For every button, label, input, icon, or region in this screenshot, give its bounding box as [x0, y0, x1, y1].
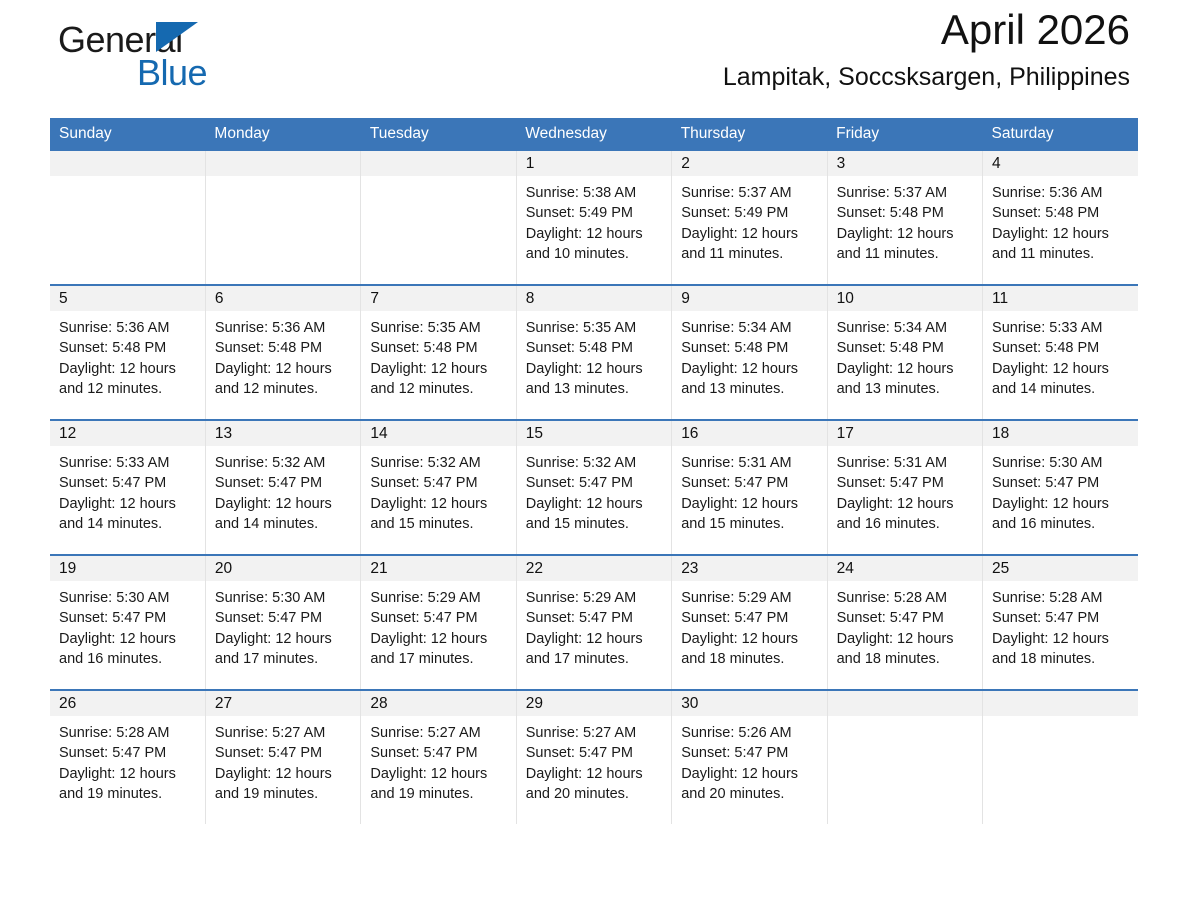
sunset-text: Sunset: 5:47 PM	[526, 608, 662, 628]
day-details: Sunrise: 5:38 AMSunset: 5:49 PMDaylight:…	[517, 176, 671, 264]
triangle-icon	[156, 22, 198, 52]
daylight-text-line2: and 19 minutes.	[215, 784, 351, 804]
calendar-cell-empty	[205, 151, 360, 285]
day-number: 11	[983, 286, 1138, 311]
day-details: Sunrise: 5:32 AMSunset: 5:47 PMDaylight:…	[206, 446, 360, 534]
day-details: Sunrise: 5:30 AMSunset: 5:47 PMDaylight:…	[50, 581, 205, 669]
calendar-day-cell[interactable]: 21Sunrise: 5:29 AMSunset: 5:47 PMDayligh…	[361, 555, 516, 690]
weekday-header-wednesday: Wednesday	[516, 118, 671, 151]
sunrise-text: Sunrise: 5:32 AM	[370, 453, 506, 473]
calendar-cell-empty	[361, 151, 516, 285]
page-title: April 2026	[723, 6, 1130, 54]
daylight-text-line2: and 13 minutes.	[837, 379, 973, 399]
sunrise-text: Sunrise: 5:29 AM	[681, 588, 817, 608]
daylight-text-line1: Daylight: 12 hours	[837, 629, 973, 649]
calendar-week-row: 19Sunrise: 5:30 AMSunset: 5:47 PMDayligh…	[50, 555, 1138, 690]
sunset-text: Sunset: 5:48 PM	[837, 203, 973, 223]
daylight-text-line1: Daylight: 12 hours	[526, 764, 662, 784]
daylight-text-line2: and 19 minutes.	[370, 784, 506, 804]
day-details: Sunrise: 5:27 AMSunset: 5:47 PMDaylight:…	[517, 716, 671, 804]
calendar-day-cell[interactable]: 20Sunrise: 5:30 AMSunset: 5:47 PMDayligh…	[205, 555, 360, 690]
calendar-day-cell[interactable]: 24Sunrise: 5:28 AMSunset: 5:47 PMDayligh…	[827, 555, 982, 690]
daylight-text-line1: Daylight: 12 hours	[526, 629, 662, 649]
day-details: Sunrise: 5:30 AMSunset: 5:47 PMDaylight:…	[983, 446, 1138, 534]
daylight-text-line2: and 15 minutes.	[370, 514, 506, 534]
calendar-day-cell[interactable]: 7Sunrise: 5:35 AMSunset: 5:48 PMDaylight…	[361, 285, 516, 420]
sunrise-text: Sunrise: 5:27 AM	[526, 723, 662, 743]
day-number: 18	[983, 421, 1138, 446]
calendar-day-cell[interactable]: 6Sunrise: 5:36 AMSunset: 5:48 PMDaylight…	[205, 285, 360, 420]
day-number: 15	[517, 421, 671, 446]
daylight-text-line1: Daylight: 12 hours	[526, 359, 662, 379]
daylight-text-line1: Daylight: 12 hours	[837, 224, 973, 244]
day-details: Sunrise: 5:34 AMSunset: 5:48 PMDaylight:…	[828, 311, 982, 399]
calendar-page: General Blue April 2026 Lampitak, Soccsk…	[0, 0, 1188, 918]
day-number: 16	[672, 421, 826, 446]
sunrise-text: Sunrise: 5:26 AM	[681, 723, 817, 743]
day-details: Sunrise: 5:33 AMSunset: 5:47 PMDaylight:…	[50, 446, 205, 534]
day-number: 20	[206, 556, 360, 581]
daylight-text-line2: and 16 minutes.	[59, 649, 196, 669]
sunset-text: Sunset: 5:47 PM	[370, 743, 506, 763]
daylight-text-line1: Daylight: 12 hours	[59, 764, 196, 784]
sunset-text: Sunset: 5:47 PM	[526, 743, 662, 763]
daylight-text-line1: Daylight: 12 hours	[59, 629, 196, 649]
daylight-text-line1: Daylight: 12 hours	[59, 359, 196, 379]
sunset-text: Sunset: 5:47 PM	[837, 608, 973, 628]
sunrise-text: Sunrise: 5:31 AM	[681, 453, 817, 473]
sunrise-text: Sunrise: 5:28 AM	[59, 723, 196, 743]
day-details: Sunrise: 5:27 AMSunset: 5:47 PMDaylight:…	[206, 716, 360, 804]
page-subtitle: Lampitak, Soccsksargen, Philippines	[723, 63, 1130, 92]
daylight-text-line2: and 15 minutes.	[526, 514, 662, 534]
logo-text-blue: Blue	[137, 55, 207, 91]
daylight-text-line1: Daylight: 12 hours	[215, 764, 351, 784]
sunrise-text: Sunrise: 5:36 AM	[215, 318, 351, 338]
day-number: 6	[206, 286, 360, 311]
sunset-text: Sunset: 5:47 PM	[59, 473, 196, 493]
weekday-header-row: Sunday Monday Tuesday Wednesday Thursday…	[50, 118, 1138, 151]
daylight-text-line1: Daylight: 12 hours	[526, 224, 662, 244]
day-details: Sunrise: 5:35 AMSunset: 5:48 PMDaylight:…	[517, 311, 671, 399]
day-details: Sunrise: 5:37 AMSunset: 5:49 PMDaylight:…	[672, 176, 826, 264]
sunrise-text: Sunrise: 5:32 AM	[215, 453, 351, 473]
sunrise-text: Sunrise: 5:37 AM	[837, 183, 973, 203]
daylight-text-line2: and 11 minutes.	[837, 244, 973, 264]
weekday-header-sunday: Sunday	[50, 118, 205, 151]
daylight-text-line1: Daylight: 12 hours	[992, 494, 1129, 514]
daylight-text-line1: Daylight: 12 hours	[681, 494, 817, 514]
day-number: 7	[361, 286, 515, 311]
day-details: Sunrise: 5:27 AMSunset: 5:47 PMDaylight:…	[361, 716, 515, 804]
daylight-text-line1: Daylight: 12 hours	[681, 224, 817, 244]
calendar-day-cell[interactable]: 8Sunrise: 5:35 AMSunset: 5:48 PMDaylight…	[516, 285, 671, 420]
sunrise-text: Sunrise: 5:28 AM	[837, 588, 973, 608]
calendar-week-row: 1Sunrise: 5:38 AMSunset: 5:49 PMDaylight…	[50, 151, 1138, 285]
day-details: Sunrise: 5:34 AMSunset: 5:48 PMDaylight:…	[672, 311, 826, 399]
day-details: Sunrise: 5:30 AMSunset: 5:47 PMDaylight:…	[206, 581, 360, 669]
daylight-text-line1: Daylight: 12 hours	[526, 494, 662, 514]
calendar-day-cell[interactable]: 23Sunrise: 5:29 AMSunset: 5:47 PMDayligh…	[672, 555, 827, 690]
calendar-day-cell[interactable]: 18Sunrise: 5:30 AMSunset: 5:47 PMDayligh…	[983, 420, 1138, 555]
sunrise-text: Sunrise: 5:38 AM	[526, 183, 662, 203]
sunset-text: Sunset: 5:47 PM	[370, 473, 506, 493]
sunrise-text: Sunrise: 5:35 AM	[370, 318, 506, 338]
daylight-text-line1: Daylight: 12 hours	[837, 359, 973, 379]
weekday-header-friday: Friday	[827, 118, 982, 151]
daylight-text-line1: Daylight: 12 hours	[215, 629, 351, 649]
daylight-text-line2: and 12 minutes.	[370, 379, 506, 399]
sunrise-text: Sunrise: 5:31 AM	[837, 453, 973, 473]
day-number: 17	[828, 421, 982, 446]
daylight-text-line1: Daylight: 12 hours	[370, 494, 506, 514]
daylight-text-line1: Daylight: 12 hours	[681, 629, 817, 649]
sunset-text: Sunset: 5:47 PM	[59, 608, 196, 628]
daylight-text-line1: Daylight: 12 hours	[992, 224, 1129, 244]
daylight-text-line2: and 14 minutes.	[215, 514, 351, 534]
calendar-cell-empty	[50, 151, 205, 285]
daylight-text-line2: and 11 minutes.	[681, 244, 817, 264]
daylight-text-line1: Daylight: 12 hours	[215, 359, 351, 379]
page-masthead: General Blue April 2026 Lampitak, Soccsk…	[50, 0, 1138, 118]
day-details: Sunrise: 5:29 AMSunset: 5:47 PMDaylight:…	[672, 581, 826, 669]
day-number: 25	[983, 556, 1138, 581]
daylight-text-line2: and 16 minutes.	[837, 514, 973, 534]
calendar-cell-empty	[983, 690, 1138, 824]
day-number: 19	[50, 556, 205, 581]
weekday-header-thursday: Thursday	[672, 118, 827, 151]
sunrise-text: Sunrise: 5:29 AM	[370, 588, 506, 608]
calendar-day-cell[interactable]: 28Sunrise: 5:27 AMSunset: 5:47 PMDayligh…	[361, 690, 516, 824]
daylight-text-line2: and 14 minutes.	[59, 514, 196, 534]
daylight-text-line2: and 13 minutes.	[526, 379, 662, 399]
sunset-text: Sunset: 5:47 PM	[837, 473, 973, 493]
day-details: Sunrise: 5:28 AMSunset: 5:47 PMDaylight:…	[828, 581, 982, 669]
sunrise-text: Sunrise: 5:33 AM	[59, 453, 196, 473]
weekday-header-tuesday: Tuesday	[361, 118, 516, 151]
calendar-day-cell[interactable]: 1Sunrise: 5:38 AMSunset: 5:49 PMDaylight…	[516, 151, 671, 285]
calendar-day-cell[interactable]: 17Sunrise: 5:31 AMSunset: 5:47 PMDayligh…	[827, 420, 982, 555]
daylight-text-line2: and 13 minutes.	[681, 379, 817, 399]
day-details: Sunrise: 5:26 AMSunset: 5:47 PMDaylight:…	[672, 716, 826, 804]
sunrise-text: Sunrise: 5:27 AM	[215, 723, 351, 743]
day-number: 9	[672, 286, 826, 311]
day-details: Sunrise: 5:31 AMSunset: 5:47 PMDaylight:…	[672, 446, 826, 534]
sunset-text: Sunset: 5:47 PM	[526, 473, 662, 493]
weekday-header-monday: Monday	[205, 118, 360, 151]
sunrise-text: Sunrise: 5:29 AM	[526, 588, 662, 608]
calendar-day-cell[interactable]: 26Sunrise: 5:28 AMSunset: 5:47 PMDayligh…	[50, 690, 205, 824]
calendar-day-cell[interactable]: 9Sunrise: 5:34 AMSunset: 5:48 PMDaylight…	[672, 285, 827, 420]
day-number: 8	[517, 286, 671, 311]
day-number: 26	[50, 691, 205, 716]
daylight-text-line2: and 11 minutes.	[992, 244, 1129, 264]
daylight-text-line2: and 12 minutes.	[59, 379, 196, 399]
daylight-text-line1: Daylight: 12 hours	[992, 629, 1129, 649]
day-number: 14	[361, 421, 515, 446]
day-number	[983, 691, 1138, 716]
sunrise-text: Sunrise: 5:37 AM	[681, 183, 817, 203]
daylight-text-line1: Daylight: 12 hours	[681, 764, 817, 784]
daylight-text-line1: Daylight: 12 hours	[992, 359, 1129, 379]
day-number: 1	[517, 151, 671, 176]
calendar-body: 1Sunrise: 5:38 AMSunset: 5:49 PMDaylight…	[50, 151, 1138, 824]
sunset-text: Sunset: 5:48 PM	[59, 338, 196, 358]
day-number: 27	[206, 691, 360, 716]
calendar-day-cell[interactable]: 12Sunrise: 5:33 AMSunset: 5:47 PMDayligh…	[50, 420, 205, 555]
day-number: 30	[672, 691, 826, 716]
sunset-text: Sunset: 5:49 PM	[526, 203, 662, 223]
daylight-text-line2: and 17 minutes.	[526, 649, 662, 669]
day-number	[361, 151, 515, 176]
calendar-week-row: 5Sunrise: 5:36 AMSunset: 5:48 PMDaylight…	[50, 285, 1138, 420]
daylight-text-line2: and 15 minutes.	[681, 514, 817, 534]
calendar-day-cell[interactable]: 16Sunrise: 5:31 AMSunset: 5:47 PMDayligh…	[672, 420, 827, 555]
sunset-text: Sunset: 5:48 PM	[992, 338, 1129, 358]
generalblue-logo[interactable]: General Blue	[58, 10, 318, 100]
sunrise-text: Sunrise: 5:32 AM	[526, 453, 662, 473]
daylight-text-line2: and 12 minutes.	[215, 379, 351, 399]
calendar-day-cell[interactable]: 11Sunrise: 5:33 AMSunset: 5:48 PMDayligh…	[983, 285, 1138, 420]
sunset-text: Sunset: 5:49 PM	[681, 203, 817, 223]
sunset-text: Sunset: 5:48 PM	[992, 203, 1129, 223]
calendar-day-cell[interactable]: 5Sunrise: 5:36 AMSunset: 5:48 PMDaylight…	[50, 285, 205, 420]
day-details: Sunrise: 5:28 AMSunset: 5:47 PMDaylight:…	[50, 716, 205, 804]
calendar-day-cell[interactable]: 13Sunrise: 5:32 AMSunset: 5:47 PMDayligh…	[205, 420, 360, 555]
day-details: Sunrise: 5:36 AMSunset: 5:48 PMDaylight:…	[206, 311, 360, 399]
daylight-text-line1: Daylight: 12 hours	[681, 359, 817, 379]
calendar-week-row: 12Sunrise: 5:33 AMSunset: 5:47 PMDayligh…	[50, 420, 1138, 555]
sunrise-text: Sunrise: 5:35 AM	[526, 318, 662, 338]
calendar-day-cell[interactable]: 2Sunrise: 5:37 AMSunset: 5:49 PMDaylight…	[672, 151, 827, 285]
daylight-text-line2: and 19 minutes.	[59, 784, 196, 804]
daylight-text-line2: and 18 minutes.	[992, 649, 1129, 669]
weekday-header-saturday: Saturday	[983, 118, 1138, 151]
day-details: Sunrise: 5:36 AMSunset: 5:48 PMDaylight:…	[50, 311, 205, 399]
sunset-text: Sunset: 5:48 PM	[681, 338, 817, 358]
day-number	[50, 151, 205, 176]
sunset-text: Sunset: 5:47 PM	[59, 743, 196, 763]
sunrise-text: Sunrise: 5:28 AM	[992, 588, 1129, 608]
daylight-text-line2: and 16 minutes.	[992, 514, 1129, 534]
title-block: April 2026 Lampitak, Soccsksargen, Phili…	[723, 6, 1130, 92]
day-number: 4	[983, 151, 1138, 176]
calendar-cell-empty	[827, 690, 982, 824]
sunrise-text: Sunrise: 5:36 AM	[59, 318, 196, 338]
day-number: 24	[828, 556, 982, 581]
calendar-day-cell[interactable]: 14Sunrise: 5:32 AMSunset: 5:47 PMDayligh…	[361, 420, 516, 555]
sunset-text: Sunset: 5:48 PM	[370, 338, 506, 358]
day-details: Sunrise: 5:28 AMSunset: 5:47 PMDaylight:…	[983, 581, 1138, 669]
calendar-day-cell[interactable]: 25Sunrise: 5:28 AMSunset: 5:47 PMDayligh…	[983, 555, 1138, 690]
calendar-day-cell[interactable]: 27Sunrise: 5:27 AMSunset: 5:47 PMDayligh…	[205, 690, 360, 824]
calendar-week-row: 26Sunrise: 5:28 AMSunset: 5:47 PMDayligh…	[50, 690, 1138, 824]
day-number: 23	[672, 556, 826, 581]
calendar-day-cell[interactable]: 22Sunrise: 5:29 AMSunset: 5:47 PMDayligh…	[516, 555, 671, 690]
day-details: Sunrise: 5:32 AMSunset: 5:47 PMDaylight:…	[361, 446, 515, 534]
sunset-text: Sunset: 5:47 PM	[370, 608, 506, 628]
day-number: 21	[361, 556, 515, 581]
daylight-text-line2: and 17 minutes.	[215, 649, 351, 669]
daylight-text-line2: and 20 minutes.	[526, 784, 662, 804]
sunrise-text: Sunrise: 5:36 AM	[992, 183, 1129, 203]
day-number	[206, 151, 360, 176]
daylight-text-line2: and 20 minutes.	[681, 784, 817, 804]
calendar-day-cell[interactable]: 4Sunrise: 5:36 AMSunset: 5:48 PMDaylight…	[983, 151, 1138, 285]
day-number: 29	[517, 691, 671, 716]
calendar-day-cell[interactable]: 10Sunrise: 5:34 AMSunset: 5:48 PMDayligh…	[827, 285, 982, 420]
day-details: Sunrise: 5:35 AMSunset: 5:48 PMDaylight:…	[361, 311, 515, 399]
day-number: 3	[828, 151, 982, 176]
sunset-text: Sunset: 5:48 PM	[837, 338, 973, 358]
sunrise-text: Sunrise: 5:30 AM	[59, 588, 196, 608]
day-number: 28	[361, 691, 515, 716]
day-number: 22	[517, 556, 671, 581]
daylight-text-line2: and 18 minutes.	[681, 649, 817, 669]
day-number: 10	[828, 286, 982, 311]
daylight-text-line1: Daylight: 12 hours	[59, 494, 196, 514]
day-details: Sunrise: 5:31 AMSunset: 5:47 PMDaylight:…	[828, 446, 982, 534]
sunrise-text: Sunrise: 5:27 AM	[370, 723, 506, 743]
day-details: Sunrise: 5:36 AMSunset: 5:48 PMDaylight:…	[983, 176, 1138, 264]
day-number: 12	[50, 421, 205, 446]
calendar-day-cell[interactable]: 29Sunrise: 5:27 AMSunset: 5:47 PMDayligh…	[516, 690, 671, 824]
day-details: Sunrise: 5:29 AMSunset: 5:47 PMDaylight:…	[517, 581, 671, 669]
calendar-day-cell[interactable]: 15Sunrise: 5:32 AMSunset: 5:47 PMDayligh…	[516, 420, 671, 555]
calendar-day-cell[interactable]: 30Sunrise: 5:26 AMSunset: 5:47 PMDayligh…	[672, 690, 827, 824]
sunset-text: Sunset: 5:47 PM	[215, 473, 351, 493]
sunset-text: Sunset: 5:48 PM	[526, 338, 662, 358]
sunset-text: Sunset: 5:47 PM	[992, 473, 1129, 493]
daylight-text-line1: Daylight: 12 hours	[837, 494, 973, 514]
sunrise-text: Sunrise: 5:34 AM	[837, 318, 973, 338]
daylight-text-line1: Daylight: 12 hours	[370, 764, 506, 784]
daylight-text-line1: Daylight: 12 hours	[370, 629, 506, 649]
daylight-text-line2: and 17 minutes.	[370, 649, 506, 669]
daylight-text-line2: and 18 minutes.	[837, 649, 973, 669]
sunset-text: Sunset: 5:48 PM	[215, 338, 351, 358]
day-number	[828, 691, 982, 716]
sunset-text: Sunset: 5:47 PM	[215, 743, 351, 763]
sunset-text: Sunset: 5:47 PM	[992, 608, 1129, 628]
sunrise-text: Sunrise: 5:30 AM	[215, 588, 351, 608]
daylight-text-line1: Daylight: 12 hours	[215, 494, 351, 514]
day-number: 5	[50, 286, 205, 311]
sunset-text: Sunset: 5:47 PM	[681, 473, 817, 493]
day-details: Sunrise: 5:33 AMSunset: 5:48 PMDaylight:…	[983, 311, 1138, 399]
day-number: 2	[672, 151, 826, 176]
day-details: Sunrise: 5:32 AMSunset: 5:47 PMDaylight:…	[517, 446, 671, 534]
daylight-text-line2: and 14 minutes.	[992, 379, 1129, 399]
day-details: Sunrise: 5:29 AMSunset: 5:47 PMDaylight:…	[361, 581, 515, 669]
calendar-day-cell[interactable]: 19Sunrise: 5:30 AMSunset: 5:47 PMDayligh…	[50, 555, 205, 690]
sunrise-sunset-calendar: Sunday Monday Tuesday Wednesday Thursday…	[50, 118, 1138, 824]
sunset-text: Sunset: 5:47 PM	[681, 743, 817, 763]
calendar-day-cell[interactable]: 3Sunrise: 5:37 AMSunset: 5:48 PMDaylight…	[827, 151, 982, 285]
sunrise-text: Sunrise: 5:34 AM	[681, 318, 817, 338]
sunrise-text: Sunrise: 5:30 AM	[992, 453, 1129, 473]
day-number: 13	[206, 421, 360, 446]
sunset-text: Sunset: 5:47 PM	[681, 608, 817, 628]
daylight-text-line2: and 10 minutes.	[526, 244, 662, 264]
day-details: Sunrise: 5:37 AMSunset: 5:48 PMDaylight:…	[828, 176, 982, 264]
sunset-text: Sunset: 5:47 PM	[215, 608, 351, 628]
sunrise-text: Sunrise: 5:33 AM	[992, 318, 1129, 338]
daylight-text-line1: Daylight: 12 hours	[370, 359, 506, 379]
